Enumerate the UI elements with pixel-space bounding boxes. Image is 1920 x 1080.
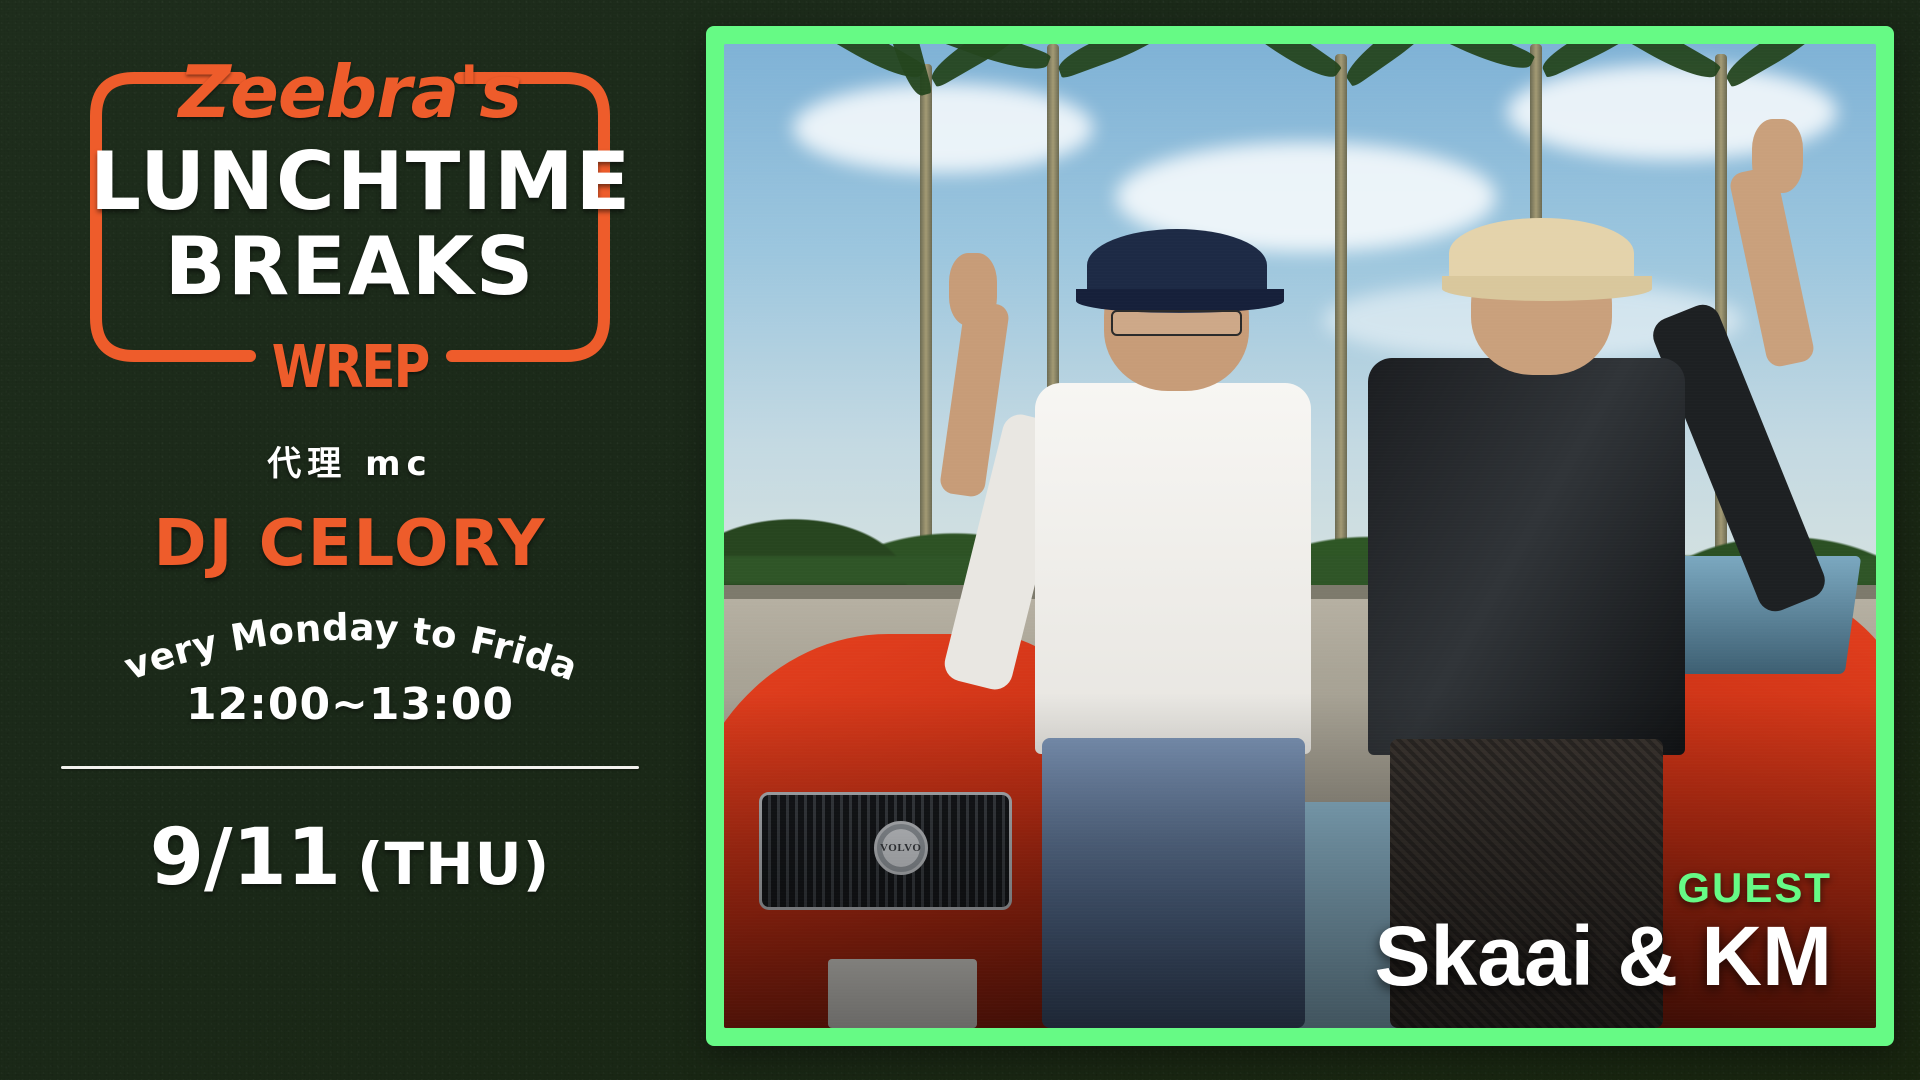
logo-owner-text: Zeebra's (90, 50, 610, 134)
logo-line2-text: BREAKS (90, 227, 610, 307)
show-logo-lockup: Zeebra's LUNCHTIME BREAKS WREP (90, 72, 610, 362)
logo-line1-text: LUNCHTIME (90, 142, 610, 222)
glasses-icon (1111, 310, 1242, 336)
station-badge-wrep: WREP (90, 333, 610, 401)
poster-canvas: Zeebra's LUNCHTIME BREAKS WREP 代理 mc DJ … (0, 0, 1920, 1080)
guest-label: GUEST (1375, 866, 1833, 910)
peace-sign-hand (1752, 119, 1804, 193)
svg-text:Every Monday to Friday: Every Monday to Friday (120, 605, 580, 685)
dj-name-text: DJ CELORY (154, 507, 547, 581)
guest-caption: GUEST Skaai & KM (1375, 866, 1833, 1002)
date-weekday: (THU) (357, 830, 550, 898)
schedule-days-text: Every Monday to Friday (120, 605, 580, 685)
cap-brim (1442, 276, 1652, 301)
schedule-days-arch: Every Monday to Friday (120, 605, 580, 685)
guest-name: Skaai & KM (1375, 910, 1833, 1002)
divider-rule (61, 766, 639, 769)
left-info-panel: Zeebra's LUNCHTIME BREAKS WREP 代理 mc DJ … (0, 0, 700, 1080)
broadcast-date: 9/11 (THU) (150, 813, 551, 903)
schedule-time-text: 12:00~13:00 (186, 679, 514, 730)
mc-role-label: 代理 mc (267, 436, 432, 485)
guest-photo-frame: VOLVO (706, 26, 1894, 1046)
date-day-number: 9/11 (150, 813, 341, 903)
peace-sign-hand (949, 253, 997, 326)
guest-photo: VOLVO (724, 44, 1876, 1028)
